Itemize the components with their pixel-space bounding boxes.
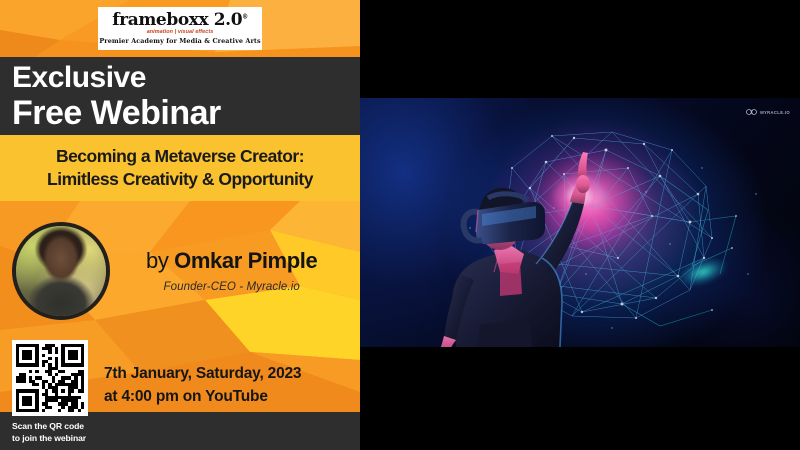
brand-name: frameboxx 2.0®: [112, 12, 248, 29]
speaker-name: by Omkar Pimple: [146, 248, 317, 274]
headline-band: Exclusive Free Webinar: [0, 57, 360, 135]
brand-logo-plate: frameboxx 2.0® animation | visual effect…: [98, 7, 262, 50]
headline-line-1: Exclusive: [12, 63, 360, 94]
schedule-block: 7th January, Saturday, 2023 at 4:00 pm o…: [104, 362, 301, 409]
qr-code[interactable]: [12, 340, 88, 416]
headline-line-2: Free Webinar: [12, 96, 360, 131]
webinar-promo-screenshot: frameboxx 2.0® animation | visual effect…: [0, 0, 800, 450]
qr-caption-line-2: to join the webinar: [12, 433, 108, 445]
brand-logo-band: frameboxx 2.0® animation | visual effect…: [0, 0, 360, 57]
webinar-title-line-1: Becoming a Metaverse Creator:: [56, 145, 304, 168]
brand-subtitle: Premier Academy for Media & Creative Art…: [99, 38, 260, 44]
poster-panel: frameboxx 2.0® animation | visual effect…: [0, 0, 360, 450]
brand-tagline: animation | visual effects: [147, 30, 214, 35]
vr-user-figure: [360, 98, 800, 347]
brand-name-text: frameboxx 2.0: [112, 10, 242, 30]
webinar-title-band: Becoming a Metaverse Creator: Limitless …: [0, 135, 360, 201]
speaker-role: Founder-CEO - Myracle.io: [146, 281, 317, 293]
webinar-title-line-2: Limitless Creativity & Opportunity: [47, 168, 313, 191]
avatar-photo: [16, 226, 106, 316]
schedule-date: 7th January, Saturday, 2023: [104, 362, 301, 385]
speaker-avatar: [12, 222, 110, 320]
qr-block: Scan the QR code to join the webinar: [12, 340, 108, 445]
video-panel: MYRACLE.IO: [360, 0, 800, 450]
speaker-text: by Omkar Pimple Founder-CEO - Myracle.io: [146, 248, 317, 293]
myracle-infinity-icon: [746, 108, 757, 116]
schedule-time: at 4:00 pm on YouTube: [104, 385, 301, 408]
video-frame: MYRACLE.IO: [360, 98, 800, 347]
qr-caption-line-1: Scan the QR code: [12, 421, 108, 433]
registered-mark: ®: [242, 14, 248, 21]
speaker-block: by Omkar Pimple Founder-CEO - Myracle.io: [0, 210, 360, 328]
speaker-by-prefix: by: [146, 248, 174, 273]
video-watermark: MYRACLE.IO: [746, 108, 790, 116]
speaker-name-text: Omkar Pimple: [174, 248, 317, 273]
qr-caption: Scan the QR code to join the webinar: [12, 421, 108, 445]
watermark-text: MYRACLE.IO: [760, 110, 790, 115]
